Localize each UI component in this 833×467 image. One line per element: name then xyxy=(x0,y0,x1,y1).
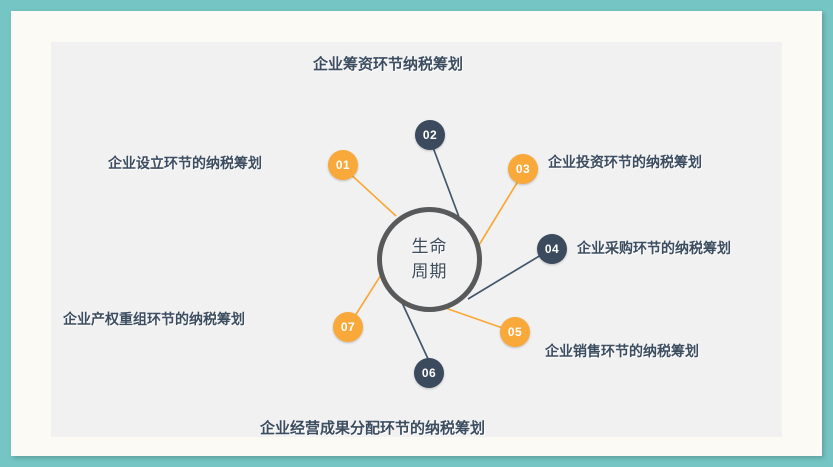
node-label-06: 企业经营成果分配环节的纳税筹划 xyxy=(260,421,485,436)
connector-line-01 xyxy=(346,170,396,216)
node-label-07: 企业产权重组环节的纳税筹划 xyxy=(63,312,245,326)
node-label-04: 企业采购环节的纳税筹划 xyxy=(577,241,731,255)
node-badge-06[interactable]: 06 xyxy=(414,358,444,388)
node-badge-07[interactable]: 07 xyxy=(333,312,363,342)
connector-line-02 xyxy=(431,142,459,217)
node-badge-03[interactable]: 03 xyxy=(508,154,538,184)
diagram-panel: 生命 周期 企业筹资环节纳税筹划 02 企业设立环节的纳税筹划 01 03 企业… xyxy=(51,42,782,437)
node-label-01: 企业设立环节的纳税筹划 xyxy=(108,156,262,170)
node-badge-04[interactable]: 04 xyxy=(537,234,567,264)
node-badge-05[interactable]: 05 xyxy=(500,317,530,347)
node-label-03: 企业投资环节的纳税筹划 xyxy=(548,155,702,169)
card-frame: 生命 周期 企业筹资环节纳税筹划 02 企业设立环节的纳税筹划 01 03 企业… xyxy=(11,11,822,456)
slide-root: 生命 周期 企业筹资环节纳税筹划 02 企业设立环节的纳税筹划 01 03 企业… xyxy=(0,0,833,467)
node-badge-02[interactable]: 02 xyxy=(415,120,445,150)
center-node-line-2: 周期 xyxy=(412,260,448,285)
node-label-05: 企业销售环节的纳税筹划 xyxy=(545,344,699,358)
node-badge-01[interactable]: 01 xyxy=(328,150,358,180)
center-node-life-cycle[interactable]: 生命 周期 xyxy=(377,207,482,312)
center-node-line-1: 生命 xyxy=(412,235,448,260)
connector-line-03 xyxy=(476,173,523,250)
node-label-02: 企业筹资环节纳税筹划 xyxy=(313,57,463,72)
